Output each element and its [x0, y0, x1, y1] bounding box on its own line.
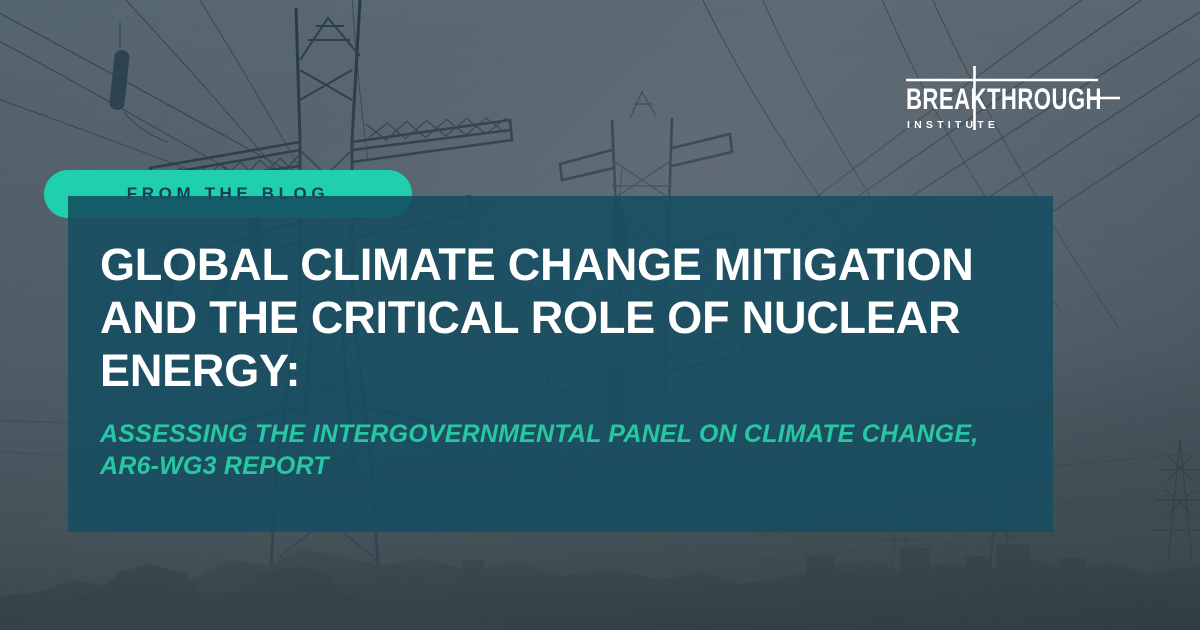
logo-subtext: INSTITUTE — [907, 119, 999, 131]
page-subtitle: Assessing the Intergovernmental Panel on… — [100, 418, 1000, 482]
headline-panel: Global Climate Change Mitigation and the… — [68, 196, 1053, 532]
breakthrough-institute-logo[interactable]: BREAKTHROUGH INSTITUTE — [898, 64, 1138, 138]
blog-social-card: FROM THE BLOG Global Climate Change Miti… — [0, 0, 1200, 630]
logo-wordmark: BREAKTHROUGH — [906, 83, 1102, 116]
page-title: Global Climate Change Mitigation and the… — [100, 238, 1030, 397]
